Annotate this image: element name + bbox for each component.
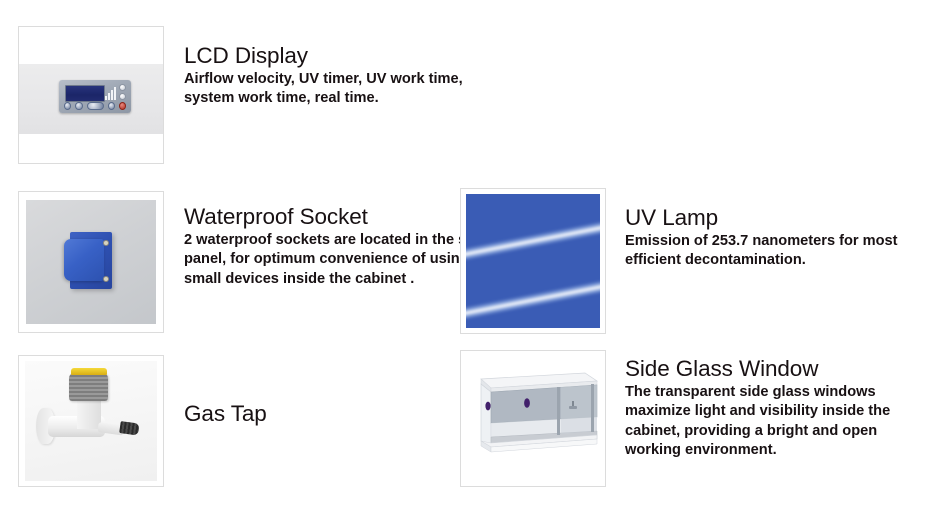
cabinet-illustration [461,351,605,486]
gas-tap-black-tip [119,421,139,435]
feature-side-glass-window: Side Glass Window The transparent side g… [460,350,920,487]
feature-waterproof-socket: Waterproof Socket 2 waterproof sockets a… [18,191,488,333]
cabinet-side-glass-render [460,350,606,487]
side-glass-window-description: The transparent side glass windows maxim… [625,383,920,459]
lcd-display-description: Airflow velocity, UV timer, UV work time… [184,70,488,108]
uv-lamp-title: UV Lamp [625,206,920,230]
socket-screw [103,276,109,282]
gas-tap-text: Gas Tap [164,355,488,428]
control-button [108,102,115,110]
control-button [75,102,82,110]
gas-tap-handle [69,373,108,402]
control-panel-body [59,80,131,113]
gas-tap-yellow-cap [71,368,107,376]
control-button-wide [87,102,104,110]
side-glass-window-text: Side Glass Window The transparent side g… [606,350,920,460]
uv-lamp-tubes-photo [460,188,606,334]
lcd-control-panel-photo [18,26,164,164]
feature-uv-lamp: UV Lamp Emission of 253.7 nanometers for… [460,188,920,334]
uv-lamp-text: UV Lamp Emission of 253.7 nanometers for… [606,188,920,271]
feature-gas-tap: Gas Tap [18,355,488,487]
socket-backplate [26,200,156,323]
signal-bars-icon [105,86,117,100]
control-button-row [64,102,126,109]
indicator-lights [119,84,128,104]
lcd-display-title: LCD Display [184,44,488,68]
gas-tap-photo [18,355,164,487]
socket-lid [64,239,104,281]
uv-tube [466,275,600,324]
waterproof-socket-text: Waterproof Socket 2 waterproof sockets a… [164,191,488,289]
feature-lcd-display: LCD Display Airflow velocity, UV timer, … [18,26,488,164]
gas-tap-title: Gas Tap [184,402,488,426]
socket-body [70,232,111,289]
waterproof-socket-title: Waterproof Socket [184,205,488,229]
uv-lamp-field [466,194,600,328]
waterproof-socket-description: 2 waterproof sockets are located in the … [184,231,488,288]
blue-waterproof-socket-photo [18,191,164,333]
power-button-red [119,102,126,110]
uv-tube [466,216,600,265]
lcd-screen [65,85,104,101]
lcd-display-text: LCD Display Airflow velocity, UV timer, … [164,26,488,109]
uv-lamp-description: Emission of 253.7 nanometers for most ef… [625,232,920,270]
socket-screw [103,240,109,246]
control-button [64,102,71,110]
side-glass-window-title: Side Glass Window [625,357,920,381]
